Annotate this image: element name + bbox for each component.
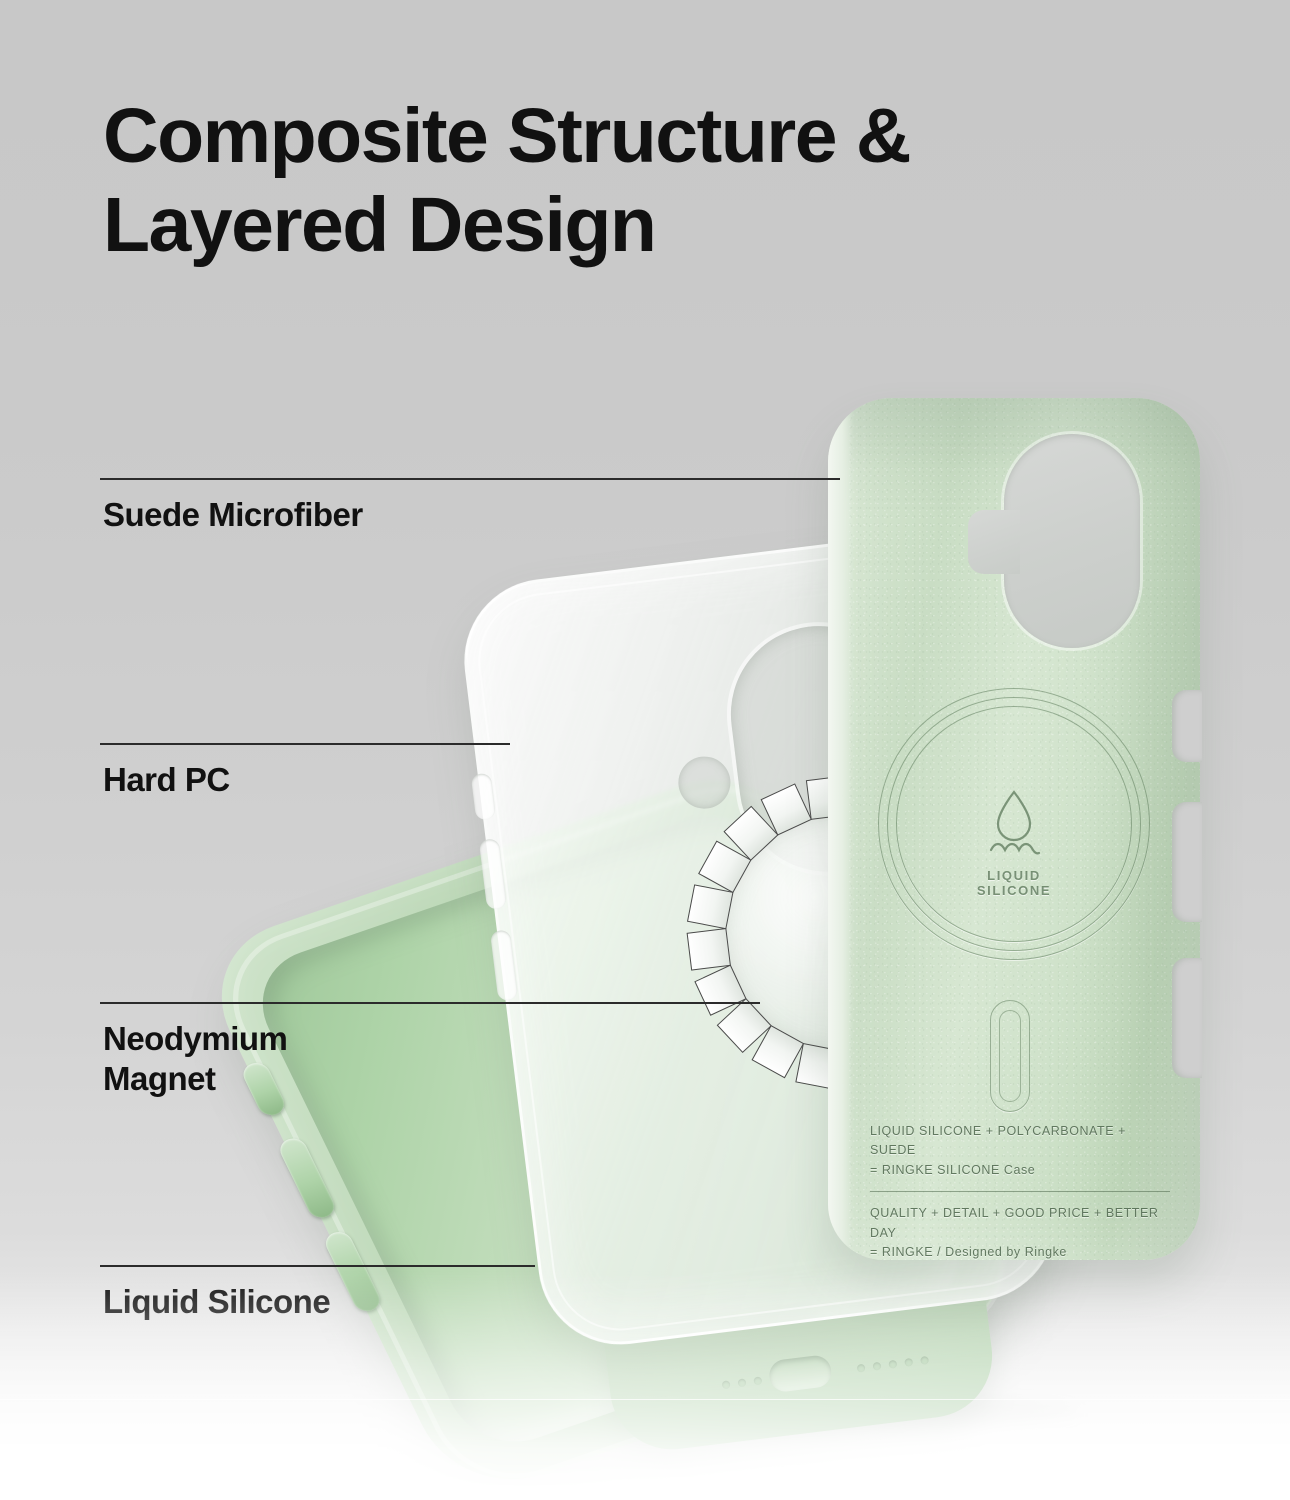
magnet-ring-disc xyxy=(708,797,980,1069)
usb-c-port-cutout xyxy=(768,1354,833,1393)
water-droplet-icon xyxy=(985,786,1043,858)
silicone-volume-down-button xyxy=(322,1229,384,1315)
spec-rule-4 xyxy=(100,1265,535,1267)
print-divider xyxy=(870,1191,1170,1192)
neodymium-magnet-ring xyxy=(670,759,1018,1107)
silicone-bottom-body xyxy=(602,1283,999,1457)
camera-control-deboss-mark xyxy=(990,1000,1030,1112)
pc-shell-rim xyxy=(471,542,1050,1338)
silicone-body xyxy=(192,757,1031,1500)
floor-horizon-line xyxy=(0,1399,1290,1400)
page-title: Composite Structure & Layered Design xyxy=(103,92,1193,269)
pc-volume-down-cutout xyxy=(490,929,518,1001)
magsafe-emboss-rings xyxy=(878,688,1150,960)
suede-microfiber-layer: LIQUID SILICONE LIQUID SILICONE + POLYCA… xyxy=(828,398,1200,1260)
suede-volume-up-notch xyxy=(1172,802,1202,922)
speaker-grille-left xyxy=(722,1376,763,1389)
stack-ground-shadow xyxy=(560,1392,1080,1432)
spec-rule-3 xyxy=(100,1002,760,1004)
pc-action-button-cutout xyxy=(471,773,496,821)
hard-pc-shell-layer xyxy=(455,526,1065,1354)
suede-texture xyxy=(828,398,1200,1260)
suede-left-rim xyxy=(828,398,854,1260)
pc-camera-cutout xyxy=(721,616,926,882)
spec-label-hard-pc: Hard PC xyxy=(103,760,230,800)
silicone-inner-cavity xyxy=(242,800,982,1459)
infographic-canvas: LIQUID SILICONE LIQUID SILICONE + POLYCA… xyxy=(0,0,1290,1500)
brand-motto-text: QUALITY + DETAIL + GOOD PRICE + BETTER D… xyxy=(870,1204,1170,1260)
suede-camera-cutout xyxy=(1004,434,1140,648)
spec-label-liquid-silicone: Liquid Silicone xyxy=(103,1282,330,1322)
pc-volume-up-cutout xyxy=(479,838,507,910)
suede-volume-down-notch xyxy=(1172,958,1202,1078)
pc-flash-cutout xyxy=(675,754,733,812)
suede-right-shading xyxy=(1080,398,1200,1260)
material-composition-text: LIQUID SILICONE + POLYCARBONATE + SUEDE … xyxy=(870,1122,1170,1180)
liquid-silicone-logo-label: LIQUID SILICONE xyxy=(956,868,1072,898)
speaker-grille-right xyxy=(857,1356,929,1373)
spec-label-suede-microfiber: Suede Microfiber xyxy=(103,495,363,535)
silicone-volume-up-button xyxy=(276,1135,338,1221)
suede-panel-body: LIQUID SILICONE LIQUID SILICONE + POLYCA… xyxy=(828,398,1200,1260)
liquid-silicone-logo: LIQUID SILICONE xyxy=(956,786,1072,898)
spec-label-neodymium-magnet: Neodymium Magnet xyxy=(103,1019,287,1100)
liquid-silicone-case-layer xyxy=(192,751,1063,1500)
pc-shell-body xyxy=(455,526,1065,1354)
suede-action-button-notch xyxy=(1172,690,1202,762)
spec-rule-1 xyxy=(100,478,840,480)
spec-rule-2 xyxy=(100,743,510,745)
silicone-lip xyxy=(206,766,1031,1499)
case-printed-spec-block: LIQUID SILICONE + POLYCARBONATE + SUEDE … xyxy=(870,1122,1170,1260)
suede-flash-cutout xyxy=(968,510,1020,574)
suede-top-shading xyxy=(828,398,1200,518)
silicone-case-bottom-edge xyxy=(602,1283,999,1457)
